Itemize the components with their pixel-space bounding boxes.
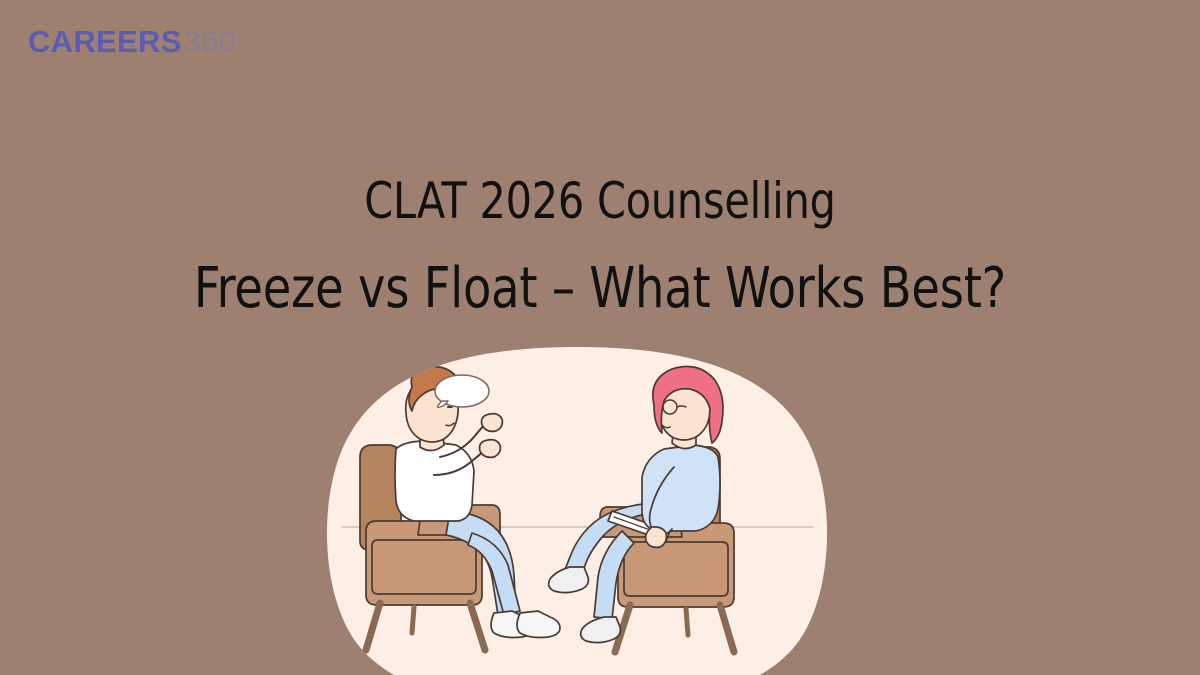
right-chair-arm-cushion xyxy=(624,542,728,596)
headline-block: CLAT 2026 Counselling Freeze vs Float – … xyxy=(0,170,1200,324)
right-person-hand xyxy=(646,527,667,548)
left-chair-arm-cushion xyxy=(372,540,476,594)
careers360-logo[interactable]: CAREERS360 xyxy=(28,26,236,57)
logo-primary-text: CAREERS xyxy=(28,26,182,57)
page-title-line-1: CLAT 2026 Counselling xyxy=(48,170,1152,232)
banner-canvas: CAREERS360 CLAT 2026 Counselling Freeze … xyxy=(0,0,1200,675)
left-person-hand-1 xyxy=(482,414,503,432)
right-chair-leg-mid xyxy=(686,609,688,635)
counselling-session-illustration xyxy=(322,345,832,675)
illustration-svg xyxy=(322,345,832,675)
page-title-line-2: Freeze vs Float – What Works Best? xyxy=(48,254,1152,324)
left-person-shirt xyxy=(395,441,474,521)
logo-secondary-text: 360 xyxy=(184,26,237,57)
left-chair-leg-mid xyxy=(412,607,414,633)
left-person-hand-2 xyxy=(480,440,501,458)
